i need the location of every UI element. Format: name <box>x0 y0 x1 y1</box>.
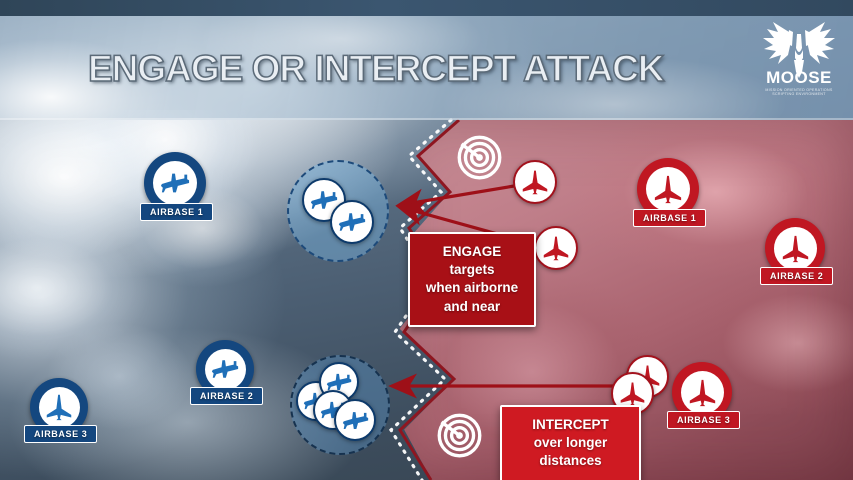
jet-front-icon <box>45 393 73 421</box>
red-engage-flight-lower[interactable] <box>534 226 578 270</box>
engage-callout-line-2: when airborne <box>420 279 524 297</box>
header-band: ENGAGE OR INTERCEPT ATTACK MOOSE MISSION… <box>0 0 853 120</box>
jet-front-icon <box>521 168 549 196</box>
radar-target-upper[interactable] <box>457 135 502 180</box>
red-airbase-3-label: AIRBASE 3 <box>667 411 740 429</box>
jet-front-icon <box>781 234 810 263</box>
radar-target-icon <box>457 135 502 180</box>
engage-callout-line-3: and near <box>420 298 524 316</box>
intercept-callout: INTERCEPT over longer distances <box>500 405 641 480</box>
jet-front-icon <box>619 380 646 407</box>
intercept-callout-line-2: over longer <box>512 434 629 452</box>
page-title: ENGAGE OR INTERCEPT ATTACK <box>88 48 664 90</box>
radar-target-lower[interactable] <box>437 413 482 458</box>
red-airbase-2-label: AIRBASE 2 <box>760 267 833 285</box>
moose-wordmark: MOOSE <box>759 68 839 88</box>
blue-group-upper-aircraft-2[interactable] <box>330 200 374 244</box>
engage-callout-line-1: ENGAGE targets <box>420 243 524 279</box>
intercept-callout-line-1: INTERCEPT <box>512 416 629 434</box>
jet-side-icon <box>338 208 366 236</box>
blue-group-lower-aircraft-4[interactable] <box>334 399 376 441</box>
jet-front-icon <box>542 234 570 262</box>
jet-side-icon <box>211 355 239 383</box>
moose-tagline: MISSION ORIENTED OPERATIONS SCRIPTING EN… <box>759 88 839 96</box>
slide: ENGAGE OR INTERCEPT ATTACK MOOSE MISSION… <box>0 0 853 480</box>
jet-side-icon <box>342 407 369 434</box>
blue-airbase-1-label: AIRBASE 1 <box>140 203 213 221</box>
red-airbase-1-label: AIRBASE 1 <box>633 209 706 227</box>
engage-callout: ENGAGE targets when airborne and near <box>408 232 536 327</box>
jet-front-icon <box>688 378 717 407</box>
radar-target-icon <box>437 413 482 458</box>
jet-front-icon <box>653 174 683 204</box>
red-engage-flight-upper[interactable] <box>513 160 557 204</box>
jet-side-icon <box>160 168 190 198</box>
header-topbar <box>0 0 853 16</box>
moose-logo: MOOSE MISSION ORIENTED OPERATIONS SCRIPT… <box>759 16 839 104</box>
blue-airbase-2-label: AIRBASE 2 <box>190 387 263 405</box>
blue-airbase-3-label: AIRBASE 3 <box>24 425 97 443</box>
intercept-callout-line-3: distances <box>512 452 629 470</box>
